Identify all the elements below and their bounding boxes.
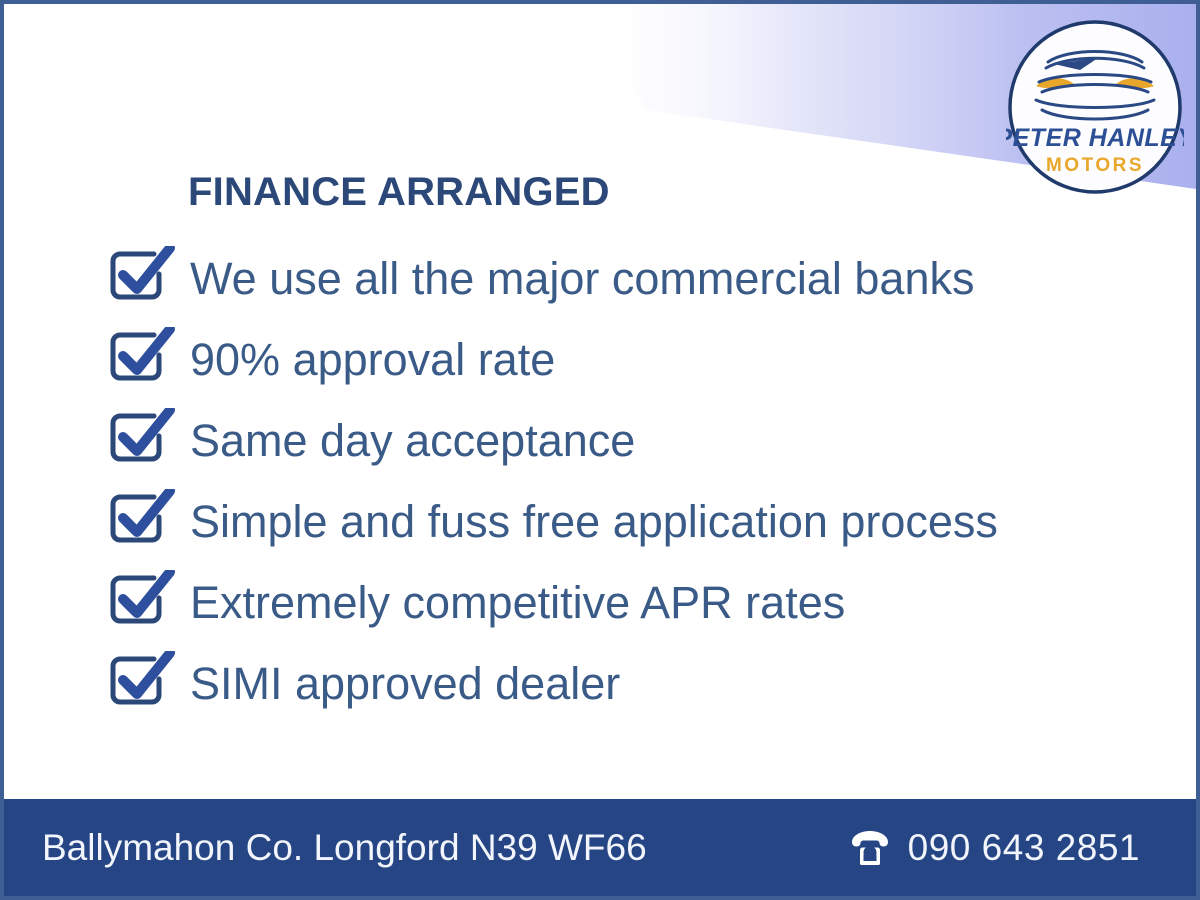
- checkbox-checked-icon: [108, 570, 180, 636]
- list-item-label: Same day acceptance: [190, 418, 635, 463]
- list-item: Extremely competitive APR rates: [108, 562, 1136, 643]
- logo-brand-name: PETER HANLEY: [1006, 124, 1184, 152]
- list-item: We use all the major commercial banks: [108, 238, 1136, 319]
- checkbox-checked-icon: [108, 408, 180, 474]
- checkbox-checked-icon: [108, 651, 180, 717]
- checkbox-checked-icon: [108, 246, 180, 312]
- footer-address: Ballymahon Co. Longford N39 WF66: [42, 827, 647, 869]
- list-item-label: SIMI approved dealer: [190, 661, 620, 706]
- footer-phone-group[interactable]: 090 643 2851: [848, 827, 1158, 869]
- telephone-icon: [848, 828, 892, 868]
- peter-hanley-motors-logo: PETER HANLEY MOTORS: [1006, 18, 1184, 196]
- list-item: SIMI approved dealer: [108, 643, 1136, 724]
- list-item: Same day acceptance: [108, 400, 1136, 481]
- list-item-label: 90% approval rate: [190, 337, 555, 382]
- finance-benefits-list: We use all the major commercial banks 90…: [108, 238, 1136, 724]
- list-item: Simple and fuss free application process: [108, 481, 1136, 562]
- finance-arranged-poster: PETER HANLEY MOTORS FINANCE ARRANGED We …: [0, 0, 1200, 900]
- list-item-label: Extremely competitive APR rates: [190, 580, 845, 625]
- footer-bar: Ballymahon Co. Longford N39 WF66 090 643…: [4, 799, 1196, 896]
- main-content: FINANCE ARRANGED We use all the major co…: [108, 172, 1136, 724]
- checkbox-checked-icon: [108, 327, 180, 393]
- checkbox-checked-icon: [108, 489, 180, 555]
- footer-phone-number: 090 643 2851: [908, 827, 1140, 869]
- list-item: 90% approval rate: [108, 319, 1136, 400]
- page-title: FINANCE ARRANGED: [188, 172, 1136, 212]
- list-item-label: Simple and fuss free application process: [190, 499, 998, 544]
- list-item-label: We use all the major commercial banks: [190, 256, 974, 301]
